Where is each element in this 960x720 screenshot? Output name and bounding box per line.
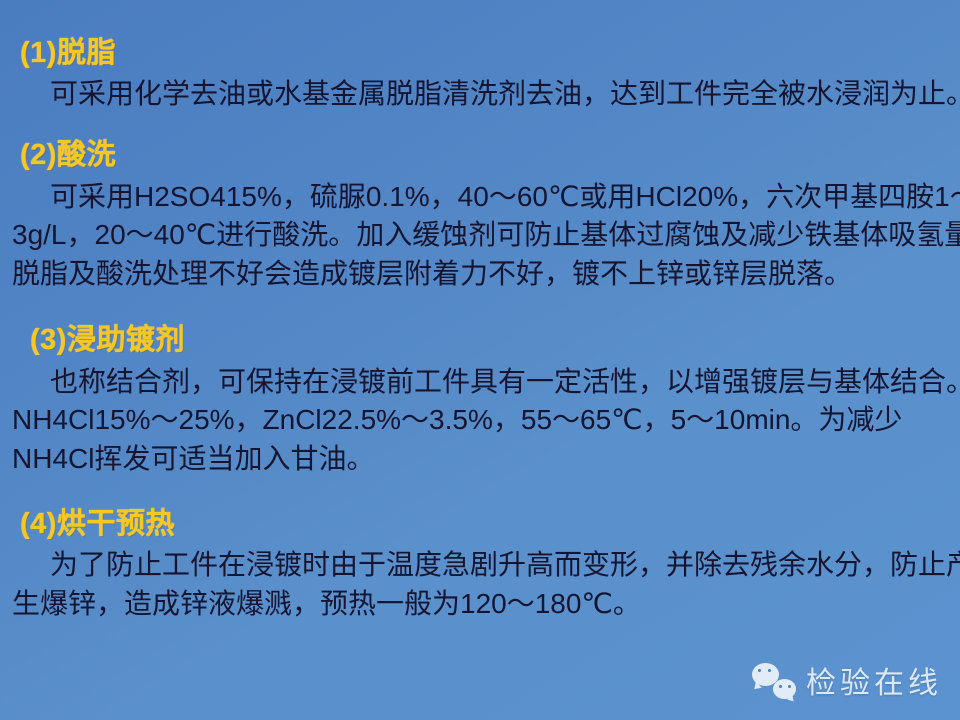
section-1-line-1: 可采用化学去油或水基金属脱脂清洗剂去油，达到工件完全被水浸润为止。 [12,75,948,114]
section-4-line-2: 生爆锌，造成锌液爆溅，预热一般为120～180℃。 [12,585,948,624]
section-drying-preheat: (4)烘干预热 为了防止工件在浸镀时由于温度急剧升高而变形，并除去残余水分，防止… [12,505,948,624]
wechat-icon [752,661,796,699]
section-2-line-1: 可采用H2SO415%，硫脲0.1%，40～60℃或用HCl20%，六次甲基四胺… [12,178,948,217]
section-pickling: (2)酸洗 可采用H2SO415%，硫脲0.1%，40～60℃或用HCl20%，… [12,136,948,293]
section-1-heading: (1)脱脂 [12,34,948,73]
section-3-line-3: NH4Cl挥发可适当加入甘油。 [12,440,948,479]
section-3-body: 也称结合剂，可保持在浸镀前工件具有一定活性，以增强镀层与基体结合。 NH4Cl1… [12,363,948,479]
section-2-line-3: 脱脂及酸洗处理不好会造成镀层附着力不好，镀不上锌或锌层脱落。 [12,255,948,294]
slide-content: (1)脱脂 可采用化学去油或水基金属脱脂清洗剂去油，达到工件完全被水浸润为止。 … [0,0,960,629]
spacer-2 [12,299,948,321]
spacer-3 [12,485,948,505]
section-2-body: 可采用H2SO415%，硫脲0.1%，40～60℃或用HCl20%，六次甲基四胺… [12,178,948,294]
section-2-heading: (2)酸洗 [12,136,948,175]
wechat-bubble-small [773,679,796,699]
section-4-heading: (4)烘干预热 [12,505,948,544]
watermark: 检验在线 [752,658,942,702]
wechat-dot-4 [788,685,791,688]
watermark-label: 检验在线 [806,658,942,702]
section-3-line-2: NH4Cl15%～25%，ZnCl22.5%～3.5%，55～65℃，5～10m… [12,401,948,440]
spacer-1 [12,120,948,136]
section-3-line-1: 也称结合剂，可保持在浸镀前工件具有一定活性，以增强镀层与基体结合。 [12,363,948,402]
section-3-heading: (3)浸助镀剂 [12,321,948,360]
slide-canvas: (1)脱脂 可采用化学去油或水基金属脱脂清洗剂去油，达到工件完全被水浸润为止。 … [0,0,960,720]
section-1-body: 可采用化学去油或水基金属脱脂清洗剂去油，达到工件完全被水浸润为止。 [12,75,948,114]
section-fluxing: (3)浸助镀剂 也称结合剂，可保持在浸镀前工件具有一定活性，以增强镀层与基体结合… [12,321,948,478]
wechat-dot-3 [779,685,782,688]
section-2-line-2: 3g/L，20～40℃进行酸洗。加入缓蚀剂可防止基体过腐蚀及减少铁基体吸氢量。 [12,216,948,255]
section-4-body: 为了防止工件在浸镀时由于温度急剧升高而变形，并除去残余水分，防止产 生爆锌，造成… [12,546,948,623]
section-4-line-1: 为了防止工件在浸镀时由于温度急剧升高而变形，并除去残余水分，防止产 [12,546,948,585]
section-degreasing: (1)脱脂 可采用化学去油或水基金属脱脂清洗剂去油，达到工件完全被水浸润为止。 [12,34,948,114]
